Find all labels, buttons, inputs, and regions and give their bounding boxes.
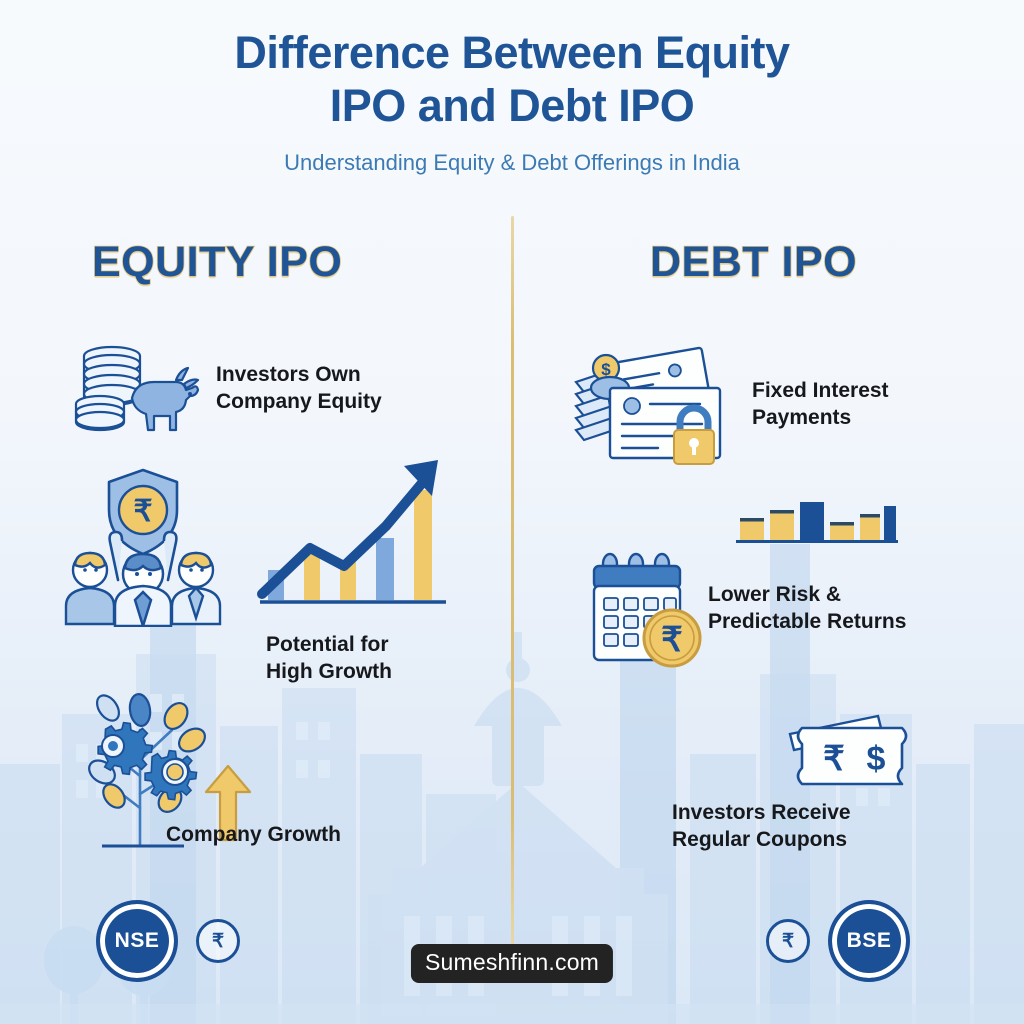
feature-investors-receive-coupons: Investors Receive Regular Coupons bbox=[672, 800, 972, 854]
exchange-badges-right: ₹ BSE bbox=[766, 900, 910, 982]
feature-label: Lower Risk & Predictable Returns bbox=[708, 582, 998, 636]
bond-documents-lock-icon: $ bbox=[566, 340, 746, 473]
feature-potential-high-growth: Potential for High Growth bbox=[266, 632, 496, 686]
feature-label: Fixed Interest Payments bbox=[752, 378, 982, 432]
mini-bar-chart-icon bbox=[736, 496, 898, 553]
nse-badge[interactable]: NSE bbox=[96, 900, 178, 982]
coins-and-bull-icon bbox=[72, 340, 202, 445]
growth-chart-arrow-icon bbox=[252, 452, 452, 617]
bse-badge[interactable]: BSE bbox=[828, 900, 910, 982]
debt-returns-mini-chart bbox=[736, 496, 898, 548]
page-title: Difference Between Equity IPO and Debt I… bbox=[0, 26, 1024, 132]
svg-text:$: $ bbox=[867, 740, 886, 778]
infographic-canvas: Difference Between Equity IPO and Debt I… bbox=[0, 0, 1024, 1024]
column-heading-equity: EQUITY IPO bbox=[92, 238, 342, 287]
feature-label: Company Growth bbox=[166, 822, 446, 849]
header: Difference Between Equity IPO and Debt I… bbox=[0, 0, 1024, 176]
rupee-icon-left: ₹ bbox=[196, 919, 240, 963]
exchange-badges-left: NSE ₹ bbox=[96, 900, 240, 982]
investors-with-rupee-shield-icon: ₹ bbox=[58, 462, 228, 632]
svg-text:₹: ₹ bbox=[823, 740, 845, 778]
feature-label: Investors Receive Regular Coupons bbox=[672, 800, 972, 854]
svg-text:₹: ₹ bbox=[661, 621, 683, 659]
feature-lower-risk-predictable: Lower Risk & Predictable Returns bbox=[708, 582, 998, 636]
svg-text:₹: ₹ bbox=[133, 495, 152, 528]
title-line-1: Difference Between Equity bbox=[234, 27, 789, 78]
feature-investors-own-equity: Investors Own Company Equity bbox=[216, 362, 446, 416]
title-line-2: IPO and Debt IPO bbox=[330, 80, 695, 131]
coupon-tickets-icon: ₹ $ bbox=[782, 710, 922, 795]
equity-growth-chart bbox=[252, 452, 452, 612]
feature-label: Potential for High Growth bbox=[266, 632, 496, 686]
feature-fixed-interest-payments: Fixed Interest Payments bbox=[752, 378, 982, 432]
rupee-icon-right: ₹ bbox=[766, 919, 810, 963]
feature-label: Investors Own Company Equity bbox=[216, 362, 446, 416]
feature-company-growth: Company Growth bbox=[166, 822, 446, 849]
vertical-gold-divider bbox=[511, 216, 514, 946]
page-subtitle: Understanding Equity & Debt Offerings in… bbox=[0, 150, 1024, 176]
column-heading-debt: DEBT IPO bbox=[650, 238, 857, 287]
watermark: Sumeshfinn.com bbox=[411, 944, 613, 983]
calendar-rupee-coin-icon: ₹ bbox=[588, 552, 710, 675]
